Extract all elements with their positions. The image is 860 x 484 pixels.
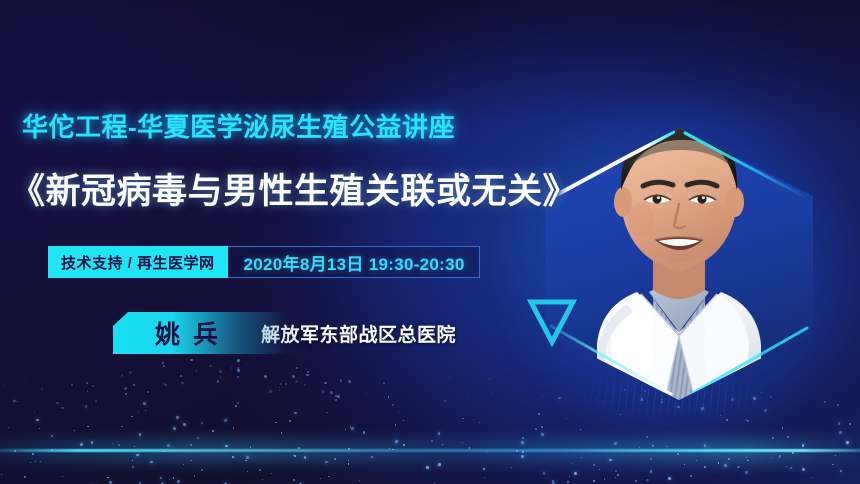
portrait-hexagon [545,128,813,400]
datetime-badge: 2020年8月13日 19:30-20:30 [228,246,480,278]
page-subtitle: 《新冠病毒与男性生殖关联或无关》 [10,163,578,214]
chevron-accent-icon [527,296,579,348]
webinar-poster: 华佗工程-华夏医学泌尿生殖公益讲座 《新冠病毒与男性生殖关联或无关》 技术支持 … [0,0,860,484]
speaker-name: 姚 兵 [155,315,221,351]
tech-support-badge: 技术支持 / 再生医学网 [48,246,228,278]
glow-line-icon [0,449,860,452]
speaker-info: 姚 兵 解放军东部战区总医院 [113,312,456,354]
speaker-name-banner: 姚 兵 [113,312,309,354]
info-bar: 技术支持 / 再生医学网 2020年8月13日 19:30-20:30 [48,246,480,278]
page-title: 华佗工程-华夏医学泌尿生殖公益讲座 [22,107,455,144]
